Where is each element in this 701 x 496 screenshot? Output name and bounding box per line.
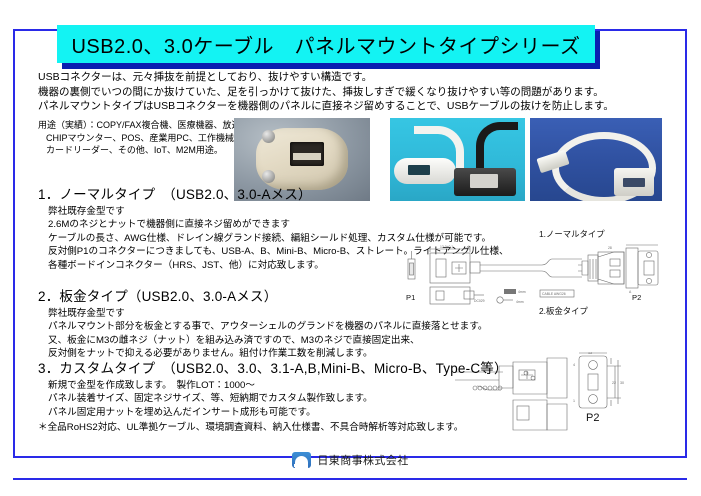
svg-text:12.0±0.1: 12.0±0.1 xyxy=(440,245,453,249)
caption-sheetmetal-type: 2.板金タイプ xyxy=(539,305,588,317)
page-title: USB2.0、3.0ケーブル パネルマウントタイプシリーズ xyxy=(71,30,580,59)
rohs-note: ＊全品RoHS2対応、UL準拠ケーブル、環境調査資料、納入仕様書、不具合時解析等… xyxy=(38,419,463,433)
cad-label-p2-top: P2 xyxy=(632,293,641,302)
svg-text:4: 4 xyxy=(573,363,575,367)
svg-text:30: 30 xyxy=(620,381,624,385)
company-logo-icon xyxy=(292,452,311,468)
section-2-line-1: 弊社既存金型です xyxy=(48,307,488,320)
company-name: 日東商事株式会社 xyxy=(317,452,408,468)
section-1-heading: 1．ノーマルタイプ （USB2.0、3.0-Aメス） xyxy=(38,183,509,203)
usage-line-1: 用途（実績）：COPY/FAX複合機、医療機器、放送機器 xyxy=(38,119,259,132)
intro-line-2: 機器の裏側でいつの間にか抜けていた、足を引っかけて抜けた、挿抜しすぎで緩くなり抜… xyxy=(38,85,668,100)
intro-paragraph: USBコネクターは、元々挿抜を前提としており、抜けやすい構造です。 機器の裏側で… xyxy=(38,70,668,114)
section-2-line-2: パネルマウント部分を板金とする事で、アウターシェルのグランドを機器のパネルに直接… xyxy=(48,320,488,333)
section-3-heading: 3．カスタムタイプ （USB2.0、3.0、3.1-A,B,Mini-B、Mic… xyxy=(38,357,508,377)
title-banner: USB2.0、3.0ケーブル パネルマウントタイプシリーズ xyxy=(57,25,595,63)
slide-page: USB2.0、3.0ケーブル パネルマウントタイプシリーズ USBコネクターは、… xyxy=(0,0,701,496)
section-3-line-1: 新規で金型を作成致します。 製作LOT：1000〜 xyxy=(48,379,508,392)
section-1-line-1: 弊社既存金型です xyxy=(48,205,509,218)
section-1-line-2: 2.6Mのネジとナットで機器側に直接ネジ留めができます xyxy=(48,218,509,231)
section-2-line-3: 又、板金にM3の雌ネジ（ナット）を組み込み済ですので、M3のネジで直接固定出来、 xyxy=(48,334,488,347)
caption-normal-type: 1.ノーマルタイプ xyxy=(539,228,605,240)
panel-mount-end-shape xyxy=(614,168,654,196)
section-sheetmetal-type: 2．板金タイプ（USB2.0、3.0-Aメス） 弊社既存金型です パネルマウント… xyxy=(38,285,488,361)
usage-list: 用途（実績）：COPY/FAX複合機、医療機器、放送機器 CHIPマウンター、P… xyxy=(38,119,259,157)
cad-label-p2-bottom: P2 xyxy=(586,412,599,424)
section-2-body: 弊社既存金型です パネルマウント部分を板金とする事で、アウターシェルのグランドを… xyxy=(38,305,488,361)
usage-line-3: カードリーダー、その他、IoT、M2M用途。 xyxy=(38,144,259,157)
section-2-heading: 2．板金タイプ（USB2.0、3.0-Aメス） xyxy=(38,285,488,305)
usage-line-2: CHIPマウンター、POS、産業用PC、工作機械、 xyxy=(38,132,259,145)
section-3-line-2: パネル装着サイズ、固定ネジサイズ、等、短納期でカスタム製作致します。 xyxy=(48,392,508,405)
intro-line-3: パネルマウントタイプはUSBコネクターを機器側のパネルに直接ネジ留めすることで、… xyxy=(38,99,668,114)
intro-line-1: USBコネクターは、元々挿抜を前提としており、抜けやすい構造です。 xyxy=(38,70,668,85)
svg-text:13: 13 xyxy=(588,352,592,355)
footer: 日東商事株式会社 xyxy=(0,452,701,468)
white-usb-port-shape xyxy=(408,165,430,175)
footer-divider xyxy=(13,478,687,480)
section-3-body: 新規で金型を作成致します。 製作LOT：1000〜 パネル装着サイズ、固定ネジサ… xyxy=(38,377,508,419)
svg-text:4mm: 4mm xyxy=(518,290,526,294)
usb-a-port-shape xyxy=(290,142,324,166)
svg-text:28: 28 xyxy=(608,246,612,250)
svg-text:4mm: 4mm xyxy=(516,300,524,304)
product-photo-white-usb-cable xyxy=(530,118,662,201)
screw-hole-top-shape xyxy=(262,130,275,143)
section-custom-type: 3．カスタムタイプ （USB2.0、3.0、3.1-A,B,Mini-B、Mic… xyxy=(38,357,508,419)
section-3-line-3: パネル固定用ナットを埋め込んだインサート成形も可能です。 xyxy=(48,406,508,419)
svg-text:1: 1 xyxy=(573,399,575,403)
svg-text:CABLE AWG26: CABLE AWG26 xyxy=(542,292,566,296)
screw-hole-bottom-shape xyxy=(262,170,275,183)
svg-text:22: 22 xyxy=(612,381,616,385)
